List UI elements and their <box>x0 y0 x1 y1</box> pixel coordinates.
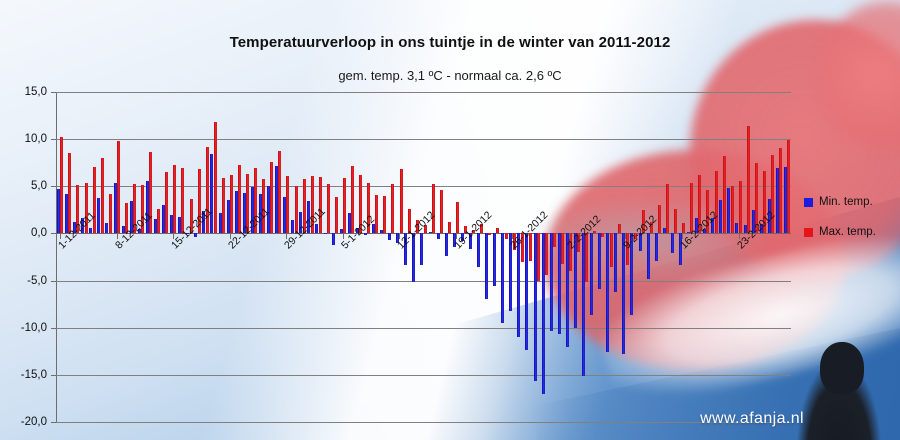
bar-min-temp <box>324 233 327 234</box>
gridline <box>56 422 791 423</box>
gridline <box>56 281 791 282</box>
bar-max-temp <box>375 195 378 234</box>
bar-max-temp <box>747 126 750 233</box>
bar-max-temp <box>448 222 451 233</box>
bar-max-temp <box>601 233 604 237</box>
bar-max-temp <box>173 165 176 234</box>
bar-max-temp <box>157 209 160 234</box>
gridline <box>56 139 791 140</box>
bar-max-temp <box>391 184 394 233</box>
chart-title: Temperatuurverloop in ons tuintje in de … <box>0 34 900 51</box>
bar-max-temp <box>109 194 112 234</box>
bar-max-temp <box>739 181 742 234</box>
bar-min-temp <box>332 233 335 244</box>
bar-min-temp <box>420 233 423 265</box>
y-tick <box>51 233 56 234</box>
bar-min-temp <box>485 233 488 299</box>
bar-max-temp <box>618 224 621 233</box>
bar-max-temp <box>723 156 726 233</box>
y-tick <box>51 92 56 93</box>
gridline <box>56 92 791 93</box>
chart-legend: Min. temp. Max. temp. <box>804 196 894 256</box>
bar-max-temp <box>666 184 669 233</box>
y-tick-label: 0,0 <box>31 227 47 239</box>
bar-max-temp <box>68 153 71 233</box>
bar-min-temp <box>550 233 553 331</box>
bar-max-temp <box>690 183 693 234</box>
bar-max-temp <box>286 176 289 234</box>
y-tick <box>51 375 56 376</box>
y-tick-label: -10,0 <box>21 322 47 334</box>
bar-max-temp <box>545 233 548 274</box>
bar-min-temp <box>671 233 674 253</box>
bar-max-temp <box>400 169 403 233</box>
bar-max-temp <box>117 141 120 233</box>
bar-max-temp <box>585 233 588 282</box>
bar-max-temp <box>779 148 782 234</box>
temperature-chart: Temperatuurverloop in ons tuintje in de … <box>0 0 900 440</box>
bar-max-temp <box>488 233 491 235</box>
gridline <box>56 328 791 329</box>
bar-min-temp <box>437 233 440 239</box>
bar-max-temp <box>682 223 685 233</box>
bar-min-temp <box>598 233 601 289</box>
bar-max-temp <box>432 184 435 233</box>
bar-max-temp <box>537 233 540 280</box>
y-tick-label: -15,0 <box>21 369 47 381</box>
bar-max-temp <box>658 205 661 233</box>
bar-max-temp <box>270 162 273 234</box>
y-tick-label: 5,0 <box>31 180 47 192</box>
bar-max-temp <box>214 122 217 233</box>
bar-max-temp <box>335 197 338 234</box>
bar-max-temp <box>383 196 386 234</box>
legend-label-min: Min. temp. <box>819 196 873 208</box>
bar-max-temp <box>222 178 225 234</box>
bar-max-temp <box>343 178 346 234</box>
bar-min-temp <box>655 233 658 260</box>
bar-min-temp <box>501 233 504 323</box>
bar-max-temp <box>674 209 677 234</box>
gridline <box>56 375 791 376</box>
bar-max-temp <box>101 158 104 233</box>
bar-max-temp <box>181 168 184 233</box>
bar-max-temp <box>610 233 613 267</box>
bar-max-temp <box>351 166 354 233</box>
bar-max-temp <box>230 175 233 233</box>
bar-min-temp <box>477 233 480 267</box>
bar-min-temp <box>590 233 593 315</box>
y-axis <box>56 92 57 422</box>
y-tick <box>51 139 56 140</box>
legend-swatch-max-icon <box>804 228 813 237</box>
bar-min-temp <box>614 233 617 291</box>
y-tick <box>51 422 56 423</box>
y-tick <box>51 186 56 187</box>
watermark-text: www.afanja.nl <box>700 410 804 428</box>
bar-min-temp <box>388 233 391 240</box>
bar-min-temp <box>445 233 448 256</box>
legend-label-max: Max. temp. <box>819 226 876 238</box>
bar-max-temp <box>456 202 459 233</box>
y-tick <box>51 281 56 282</box>
plot-area: 15,010,05,00,0-5,0-10,0-15,0-20,0 1-12-2… <box>56 92 791 422</box>
bar-max-temp <box>165 172 168 233</box>
bar-max-temp <box>715 171 718 233</box>
bar-max-temp <box>731 186 734 233</box>
y-tick <box>51 328 56 329</box>
y-tick-label: -5,0 <box>27 275 47 287</box>
bar-max-temp <box>561 233 564 263</box>
chart-subtitle: gem. temp. 3,1 ºC - normaal ca. 2,6 ºC <box>0 68 900 83</box>
y-tick-label: -20,0 <box>21 416 47 428</box>
bar-max-temp <box>278 151 281 233</box>
y-tick-label: 15,0 <box>25 86 47 98</box>
bar-min-temp <box>493 233 496 286</box>
legend-swatch-min-icon <box>804 198 813 207</box>
bar-max-temp <box>93 167 96 233</box>
y-tick-label: 10,0 <box>25 133 47 145</box>
bar-max-temp <box>505 233 508 239</box>
bar-max-temp <box>553 233 556 246</box>
bar-max-temp <box>440 190 443 233</box>
bar-max-temp <box>787 140 790 233</box>
bar-max-temp <box>60 137 63 233</box>
bar-max-temp <box>327 184 330 233</box>
bar-max-temp <box>238 165 241 234</box>
legend-item-max[interactable]: Max. temp. <box>804 226 894 238</box>
bar-max-temp <box>496 228 499 234</box>
legend-item-min[interactable]: Min. temp. <box>804 196 894 208</box>
bar-min-temp <box>647 233 650 278</box>
